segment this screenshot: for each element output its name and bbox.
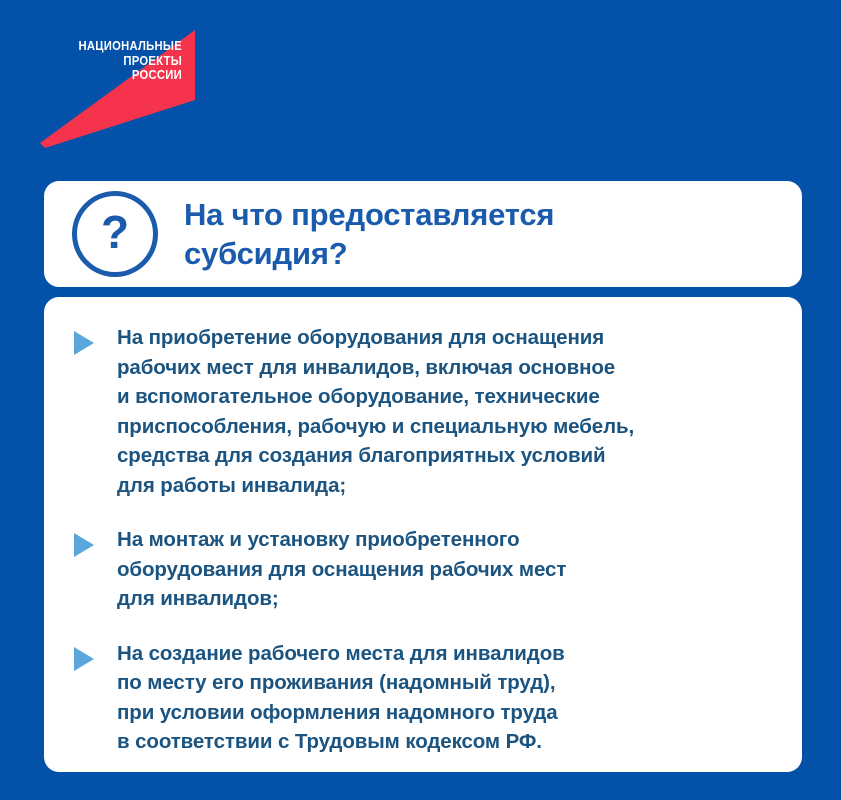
list-item: На создание рабочего места для инвалидов… (74, 639, 772, 757)
page-title: На что предоставляется субсидия? (184, 195, 704, 273)
logo-line-1: НАЦИОНАЛЬНЫЕ (54, 39, 182, 54)
question-mark-glyph: ? (101, 209, 129, 255)
logo-text-block: НАЦИОНАЛЬНЫЕ ПРОЕКТЫ РОССИИ (54, 39, 182, 83)
list-item-text: На приобретение оборудования для оснащен… (117, 323, 634, 500)
list-item-text: На монтаж и установку приобретенного обо… (117, 525, 566, 614)
logo-line-2: ПРОЕКТЫ (54, 54, 182, 69)
triangle-bullet-icon (74, 533, 94, 557)
question-mark-icon: ? (72, 191, 158, 277)
triangle-bullet-icon (74, 647, 94, 671)
list-item: На монтаж и установку приобретенного обо… (74, 525, 772, 614)
poster-root: НАЦИОНАЛЬНЫЕ ПРОЕКТЫ РОССИИ ? На что пре… (0, 0, 841, 800)
triangle-bullet-icon (74, 331, 94, 355)
title-card: ? На что предоставляется субсидия? (44, 181, 802, 287)
list-item: На приобретение оборудования для оснащен… (74, 323, 772, 500)
logo-line-3: РОССИИ (54, 68, 182, 83)
national-projects-logo: НАЦИОНАЛЬНЫЕ ПРОЕКТЫ РОССИИ (40, 30, 195, 148)
list-item-text: На создание рабочего места для инвалидов… (117, 639, 565, 757)
content-card: На приобретение оборудования для оснащен… (44, 297, 802, 772)
